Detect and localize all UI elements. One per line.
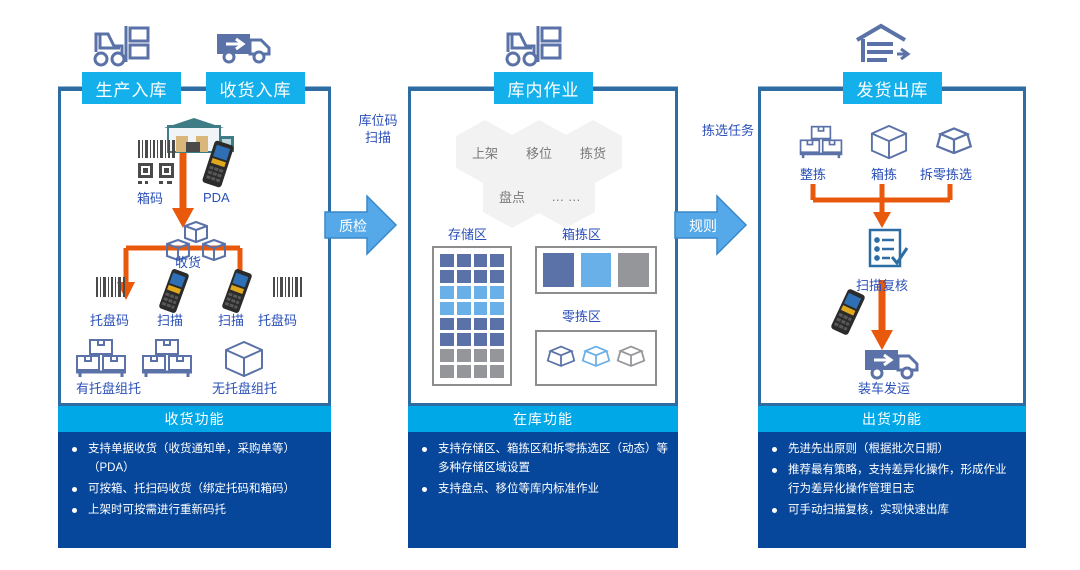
chip-shipping-outbound[interactable]: 发货出库 (843, 72, 942, 104)
feature-title: 在库功能 (408, 406, 678, 432)
feature-item: 支持存储区、箱拣区和拆零拣选区（动态）等多种存储区域设置 (414, 440, 668, 478)
feature-item: 先进先出原则（根据批次日期） (764, 440, 1016, 459)
pda-scanner-icon (828, 288, 868, 336)
storage-cell (440, 270, 454, 283)
chip-receiving-inbound[interactable]: 收货入库 (206, 72, 305, 104)
storage-cell (457, 349, 471, 362)
label-pda: PDA (203, 190, 230, 205)
open-box-icon (932, 124, 976, 162)
case-pick-block (581, 253, 612, 287)
storage-cell (457, 333, 471, 346)
feature-item: 推荐最有策略，支持差异化操作，形成作业行为差异化操作管理日志 (764, 461, 1016, 499)
label-piece-pick-zone: 零拣区 (562, 306, 601, 325)
barcode-icon (272, 277, 306, 297)
label-case-pick: 箱拣 (871, 164, 897, 183)
feature-item: 支持单据收货（收货通知单，采购单等）（PDA） (64, 440, 321, 478)
truck-icon (860, 342, 924, 382)
checklist-icon (866, 228, 910, 270)
case-pick-blocks (543, 253, 649, 287)
feature-block-receiving: 收货功能 支持单据收货（收货通知单，采购单等）（PDA）可按箱、托扫码收货（绑定… (58, 406, 331, 548)
label-piece-pick: 拆零拣选 (920, 164, 972, 183)
storage-cell (490, 349, 504, 362)
storage-cell (457, 286, 471, 299)
storage-cell (474, 270, 488, 283)
case-pick-block (543, 253, 574, 287)
label-with-pallet: 有托盘组托 (76, 378, 141, 397)
forklift-icon (502, 22, 564, 68)
label-pallet-code-left: 托盘码 (90, 310, 129, 329)
label-without-pallet: 无托盘组托 (212, 378, 277, 397)
warehouse-icon (853, 22, 911, 66)
pallet-boxes-icon (798, 124, 844, 160)
feature-item: 可手动扫描复核，实现快速出库 (764, 501, 1016, 520)
storage-cell (474, 286, 488, 299)
feature-body: 支持单据收货（收货通知单，采购单等）（PDA）可按箱、托扫码收货（绑定托码和箱码… (58, 432, 331, 548)
storage-cell (474, 333, 488, 346)
storage-cell (474, 302, 488, 315)
storage-cell (440, 349, 454, 362)
storage-cell (440, 333, 454, 346)
connector-arrow-qc[interactable]: 质检 (325, 194, 397, 256)
storage-cell (457, 365, 471, 378)
diagram-canvas: 生产入库 收货入库 库内作业 发货出库 (0, 0, 1080, 570)
operation-hexagons: 上架 移位 拣货 盘点 … … (448, 120, 638, 215)
feature-body: 支持存储区、箱拣区和拆零拣选区（动态）等多种存储区域设置支持盘点、移位等库内标准… (408, 432, 678, 548)
storage-cell (490, 270, 504, 283)
label-scan-right: 扫描 (218, 310, 244, 329)
storage-cell (474, 365, 488, 378)
feature-item: 可按箱、托扫码收货（绑定托码和箱码） (64, 480, 321, 499)
storage-cell (457, 254, 471, 267)
cube-box-icon (868, 124, 910, 162)
storage-cell (440, 254, 454, 267)
chip-production-inbound[interactable]: 生产入库 (82, 72, 181, 104)
label-scan-left: 扫描 (157, 310, 183, 329)
pda-scanner-icon (198, 140, 238, 188)
feature-list: 支持存储区、箱拣区和拆零拣选区（动态）等多种存储区域设置支持盘点、移位等库内标准… (414, 440, 668, 499)
storage-cell (490, 318, 504, 331)
storage-cell (457, 318, 471, 331)
connector-1-arrow-label: 质检 (331, 216, 375, 236)
label-storage-zone: 存储区 (448, 224, 487, 243)
truck-icon (214, 26, 274, 66)
label-pallet-code-right: 托盘码 (258, 310, 297, 329)
barcode-icon (95, 277, 129, 297)
cube-box-icon (222, 340, 266, 380)
feature-block-instore: 在库功能 支持存储区、箱拣区和拆零拣选区（动态）等多种存储区域设置支持盘点、移位… (408, 406, 678, 548)
forklift-icon (90, 22, 152, 68)
pallet-boxes-icon (74, 338, 128, 378)
open-box-icon (546, 343, 576, 373)
feature-title: 出货功能 (758, 406, 1026, 432)
feature-list: 先进先出原则（根据批次日期）推荐最有策略，支持差异化操作，形成作业行为差异化操作… (764, 440, 1016, 520)
case-pick-block (618, 253, 649, 287)
connector-arrow-rules[interactable]: 规则 (675, 194, 747, 256)
storage-cell (490, 302, 504, 315)
storage-cell (440, 302, 454, 315)
chip-in-warehouse-ops[interactable]: 库内作业 (494, 72, 593, 104)
pda-scanner-icon (218, 268, 256, 314)
storage-zone-grid (440, 254, 504, 378)
storage-cell (440, 286, 454, 299)
label-load-and-ship: 装车发运 (858, 378, 910, 397)
feature-item: 上架时可按需进行重新码托 (64, 501, 321, 520)
label-case-pick-zone: 箱拣区 (562, 224, 601, 243)
storage-cell (457, 302, 471, 315)
barcode-icon (136, 140, 178, 184)
storage-cell (490, 254, 504, 267)
label-box-code: 箱码 (137, 188, 163, 207)
storage-cell (490, 286, 504, 299)
label-full-pallet-pick: 整拣 (800, 164, 826, 183)
connector-2-arrow-label: 规则 (681, 216, 725, 236)
storage-cell (474, 318, 488, 331)
storage-cell (474, 349, 488, 362)
storage-cell (457, 270, 471, 283)
storage-cell (440, 365, 454, 378)
feature-item: 支持盘点、移位等库内标准作业 (414, 480, 668, 499)
open-box-icon (616, 343, 646, 373)
feature-list: 支持单据收货（收货通知单，采购单等）（PDA）可按箱、托扫码收货（绑定托码和箱码… (64, 440, 321, 520)
feature-body: 先进先出原则（根据批次日期）推荐最有策略，支持差异化操作，形成作业行为差异化操作… (758, 432, 1026, 548)
feature-block-shipping: 出货功能 先进先出原则（根据批次日期）推荐最有策略，支持差异化操作，形成作业行为… (758, 406, 1026, 548)
feature-title: 收货功能 (58, 406, 331, 432)
open-box-icon (581, 343, 611, 373)
storage-cell (490, 333, 504, 346)
storage-cell (490, 365, 504, 378)
pallet-boxes-icon (140, 338, 194, 378)
pda-scanner-icon (155, 268, 193, 314)
storage-cell (474, 254, 488, 267)
piece-pick-blocks (543, 338, 649, 378)
storage-cell (440, 318, 454, 331)
